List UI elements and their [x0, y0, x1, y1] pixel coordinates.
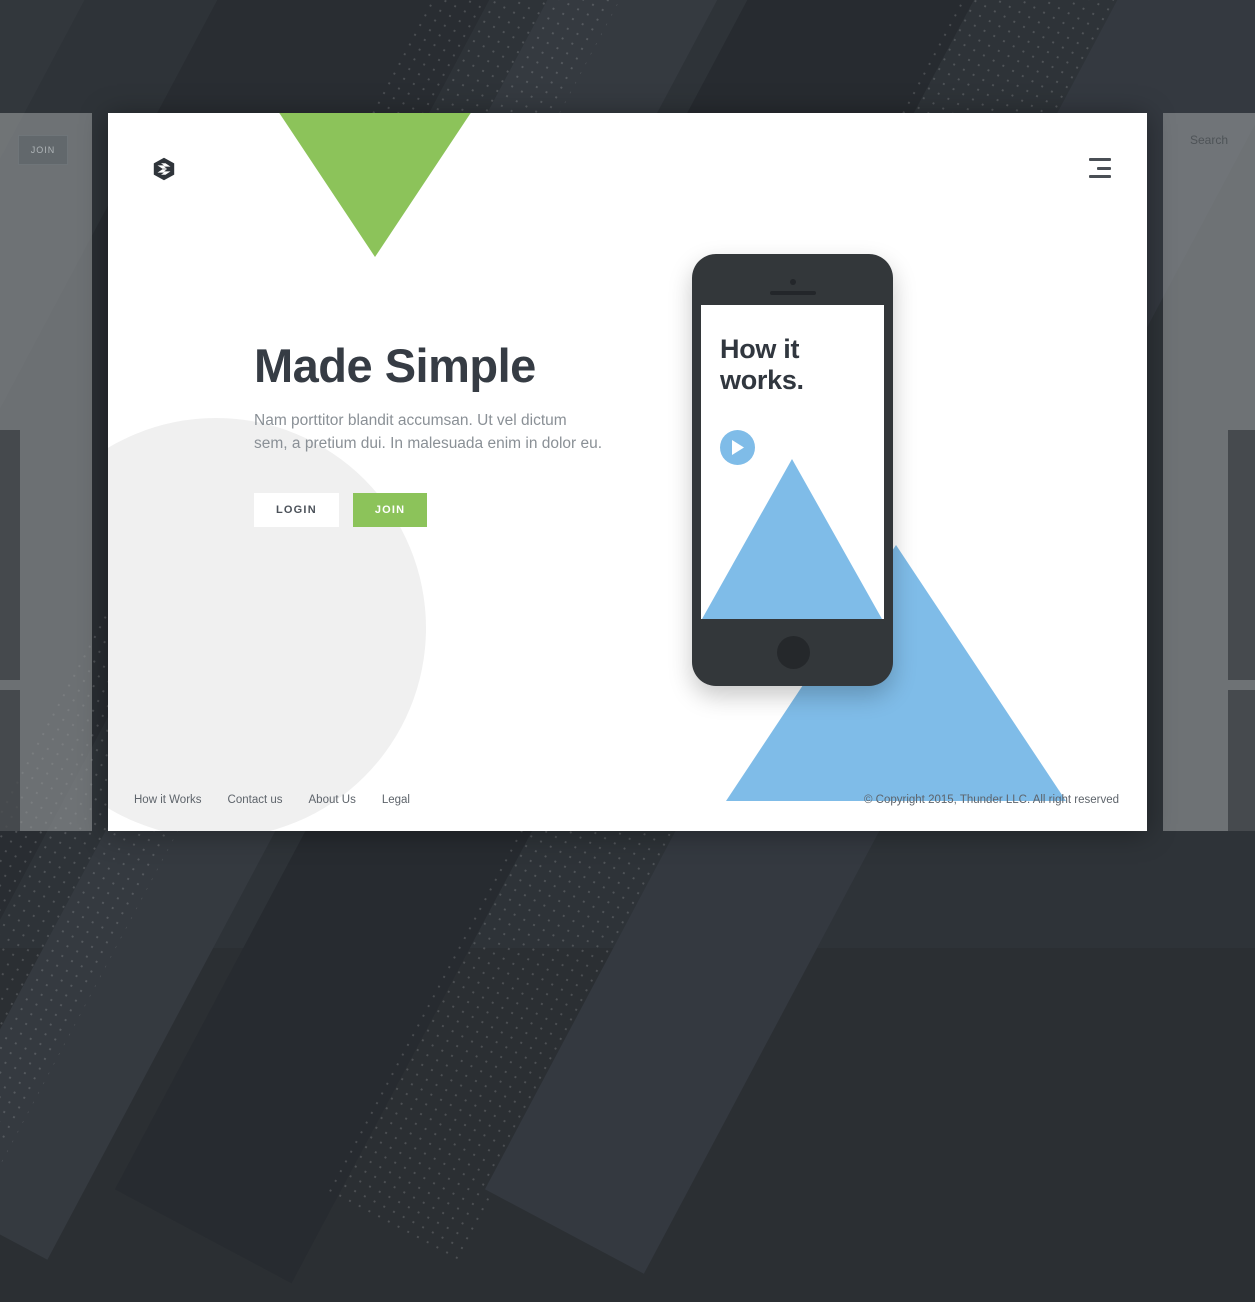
- hero-subtitle: Nam porttitor blandit accumsan. Ut vel d…: [254, 410, 604, 455]
- background-page-panel: [1228, 430, 1255, 680]
- thunder-logo[interactable]: [152, 157, 176, 181]
- footer-link-legal[interactable]: Legal: [382, 794, 410, 806]
- screen-blue-triangle: [702, 459, 882, 619]
- card-footer: How it Works Contact us About Us Legal ©…: [108, 769, 1147, 831]
- background-page-panel: [0, 690, 20, 831]
- phone-screen-title-line1: How it: [720, 334, 804, 365]
- menu-line: [1089, 158, 1111, 161]
- footer-links: How it Works Contact us About Us Legal: [134, 794, 410, 806]
- background-search-label: Search: [1163, 133, 1255, 147]
- page-title: Made Simple: [254, 341, 674, 390]
- phone-mockup: How it works.: [692, 254, 893, 686]
- join-button[interactable]: JOIN: [353, 493, 427, 527]
- hero-card: Made Simple Nam porttitor blandit accums…: [108, 113, 1147, 831]
- hamburger-menu-icon[interactable]: [1087, 158, 1111, 178]
- phone-camera-icon: [790, 279, 796, 285]
- background-page-panel: [0, 430, 20, 680]
- background-join-button: JOIN: [18, 135, 68, 165]
- footer-link-contact-us[interactable]: Contact us: [228, 794, 283, 806]
- phone-speaker-icon: [770, 291, 816, 295]
- footer-link-about-us[interactable]: About Us: [309, 794, 356, 806]
- hero-copy: Made Simple Nam porttitor blandit accums…: [254, 341, 674, 527]
- background-page-panel: [1228, 690, 1255, 831]
- phone-screen-title-line2: works.: [720, 365, 804, 396]
- play-icon[interactable]: [720, 430, 755, 465]
- login-button[interactable]: LOGIN: [254, 493, 339, 527]
- footer-link-how-it-works[interactable]: How it Works: [134, 794, 202, 806]
- phone-home-button: [777, 636, 810, 669]
- menu-line: [1097, 167, 1111, 170]
- card-header: [108, 113, 1147, 223]
- menu-line: [1089, 175, 1111, 178]
- phone-screen: How it works.: [701, 305, 884, 619]
- hero-actions: LOGIN JOIN: [254, 493, 674, 527]
- copyright-text: © Copyright 2015, Thunder LLC. All right…: [864, 794, 1119, 806]
- phone-screen-title: How it works.: [720, 334, 804, 395]
